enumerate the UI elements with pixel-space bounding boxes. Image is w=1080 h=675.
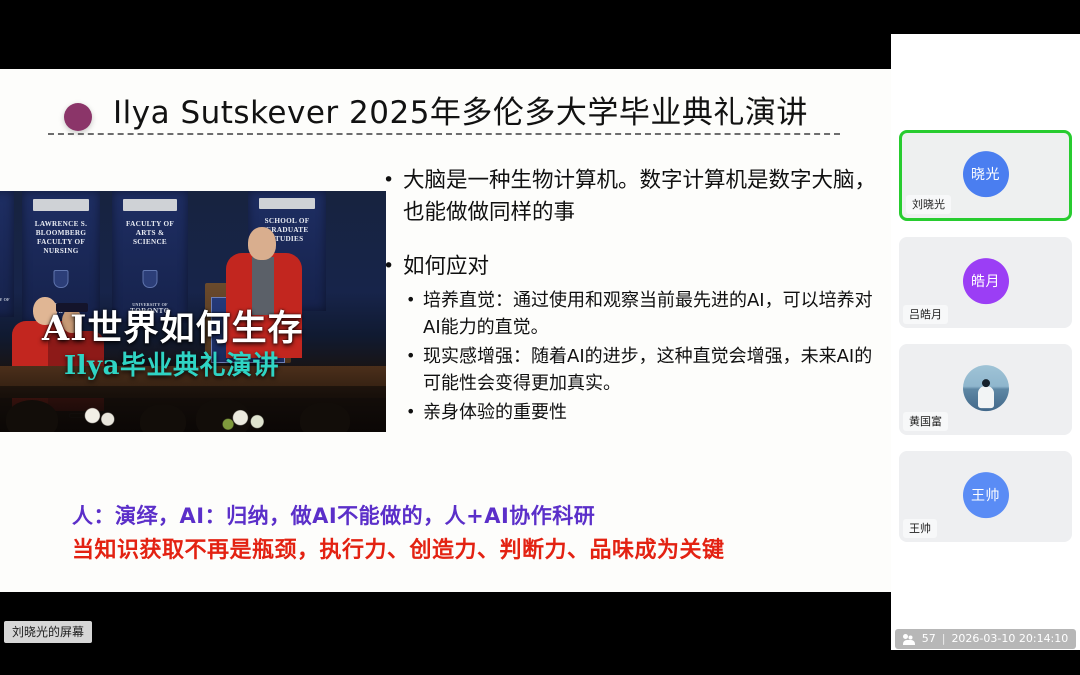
slide-title-row: Ilya Sutskever 2025年多伦多大学毕业典礼演讲 (0, 91, 891, 149)
participant-name: 黄国富 (903, 412, 948, 431)
participant-name: 王帅 (903, 519, 937, 538)
participant-tile-0[interactable]: 晓光 刘晓光 (899, 130, 1072, 221)
bullet-primary-1: 大脑是一种生物计算机。数字计算机是数字大脑，也能做做同样的事 (381, 165, 886, 229)
avatar-initials: 晓光 (971, 164, 1000, 184)
banner-university: UNIVERSITY OFTO (0, 297, 14, 310)
banner-plaque (259, 198, 315, 209)
participant-name: 吕皓月 (903, 305, 948, 324)
bullet-sub-list: 培养直觉：通过使用和观察当前最先进的AI，可以培养对AI能力的直觉。 现实感增强… (403, 287, 886, 426)
slide-conclusions: 人：演绎，AI：归纳，做AI不能做的，人+AI协作科研 当知识获取不再是瓶颈，执… (72, 499, 872, 569)
presentation-slide: Ilya Sutskever 2025年多伦多大学毕业典礼演讲 LAWRENCE… (0, 69, 891, 592)
title-divider (48, 133, 840, 135)
participant-tile-1[interactable]: 皓月 吕皓月 (899, 237, 1072, 328)
participant-name: 刘晓光 (906, 195, 951, 214)
slide-bullet-list: 大脑是一种生物计算机。数字计算机是数字大脑，也能做做同样的事 如何应对 培养直觉… (381, 165, 886, 428)
photo-overlay-subtitle: Ilya毕业典礼演讲 (64, 351, 374, 381)
status-separator: | (942, 630, 946, 648)
crest-icon (54, 270, 69, 288)
slide-photo: LAWRENCE S.BLOOMBERGFACULTY OFNURSING UN… (0, 191, 386, 432)
shared-screen-region[interactable]: Ilya Sutskever 2025年多伦多大学毕业典礼演讲 LAWRENCE… (0, 0, 891, 675)
title-bullet-dot-icon (64, 103, 92, 131)
flower-arrangement (78, 406, 126, 430)
avatar: 晓光 (963, 151, 1009, 197)
flower-arrangement (218, 406, 274, 432)
speaker-head (248, 227, 276, 260)
avatar: 王帅 (963, 472, 1009, 518)
avatar-photo (963, 365, 1009, 411)
participant-tile-2[interactable]: 黄国富 (899, 344, 1072, 435)
speaker-stole (252, 257, 274, 315)
banner-left-edge: UNIVERSITY OFTO (0, 191, 14, 317)
sidebar-bottom-filler (891, 650, 1080, 675)
avatar-initials: 皓月 (971, 271, 1000, 291)
meeting-window: Ilya Sutskever 2025年多伦多大学毕业典礼演讲 LAWRENCE… (0, 0, 1080, 675)
meeting-timestamp: 2026-03-10 20:14:10 (951, 630, 1068, 648)
banner-arts-science-text: FACULTY OFARTS &SCIENCE (112, 220, 188, 247)
crest-icon (143, 270, 158, 288)
bullet-sub-2: 现实感增强：随着AI的进步，这种直觉会增强，未来AI的可能性会变得更加真实。 (403, 343, 886, 397)
bullet-primary-2: 如何应对 (381, 251, 886, 283)
banner-plaque (33, 199, 89, 211)
person-silhouette-icon (978, 386, 994, 408)
screen-share-label: 刘晓光的屏幕 (4, 621, 92, 643)
conclusion-line-red: 当知识获取不再是瓶颈，执行力、创造力、判断力、品味成为关键 (72, 533, 872, 569)
participant-tile-3[interactable]: 王帅 王帅 (899, 451, 1072, 542)
audience-head (140, 404, 186, 432)
bullet-sub-3: 亲身体验的重要性 (403, 399, 886, 426)
audience-crowd (0, 386, 386, 432)
status-pill: 57 | 2026-03-10 20:14:10 (895, 629, 1077, 649)
banner-plaque (123, 199, 178, 211)
conclusion-line-purple: 人：演绎，AI：归纳，做AI不能做的，人+AI协作科研 (72, 499, 872, 533)
audience-head (6, 400, 58, 432)
slide-title: Ilya Sutskever 2025年多伦多大学毕业典礼演讲 (113, 91, 808, 135)
meeting-status-bar: 57 | 2026-03-10 20:14:10 (891, 628, 1080, 650)
bullet-spacer (381, 233, 886, 251)
avatar-initials: 王帅 (971, 485, 1000, 505)
people-icon (903, 634, 916, 645)
participant-tile-list: 晓光 刘晓光 皓月 吕皓月 黄国富 王帅 王帅 (891, 130, 1080, 558)
banner-nursing-text: LAWRENCE S.BLOOMBERGFACULTY OFNURSING (22, 220, 100, 256)
audience-head (300, 402, 350, 432)
banner-arts-science: FACULTY OFARTS &SCIENCE UNIVERSITY OFTOR… (112, 191, 188, 323)
sidebar-top-filler (891, 0, 1080, 34)
participant-sidebar: 晓光 刘晓光 皓月 吕皓月 黄国富 王帅 王帅 (891, 0, 1080, 675)
avatar: 皓月 (963, 258, 1009, 304)
photo-overlay-title: AI世界如何生存 (42, 309, 372, 349)
bullet-sub-1: 培养直觉：通过使用和观察当前最先进的AI，可以培养对AI能力的直觉。 (403, 287, 886, 341)
participant-count: 57 (922, 630, 936, 648)
